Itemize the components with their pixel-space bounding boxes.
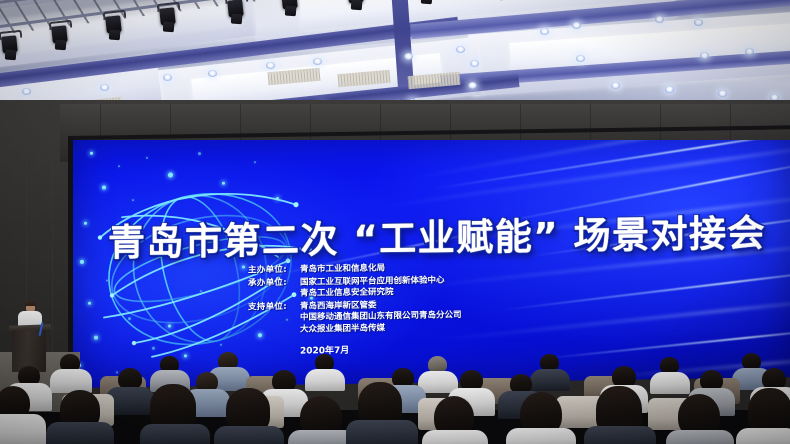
ceiling-downlight bbox=[745, 48, 754, 55]
ceiling-downlight bbox=[22, 88, 31, 95]
info-value: 青岛市工业和信息化局 bbox=[300, 263, 385, 276]
audience bbox=[0, 352, 790, 444]
audience-torso bbox=[50, 369, 92, 393]
stage-light bbox=[51, 25, 68, 43]
stage-light bbox=[281, 0, 298, 10]
info-label: 支持单位: bbox=[248, 301, 300, 313]
audience-torso bbox=[736, 428, 790, 444]
audience-torso bbox=[214, 426, 284, 444]
ceiling-downlight bbox=[576, 55, 585, 62]
ceiling-downlight bbox=[718, 90, 727, 97]
info-values: 青岛西海岸新区管委 中国移动通信集团山东有限公司青岛分公司 大众报业集团半岛传媒 bbox=[300, 299, 462, 336]
ceiling-downlight bbox=[700, 52, 709, 59]
info-label: 承办单位: bbox=[248, 277, 300, 289]
info-values: 国家工业互联网平台应用创新体验中心 青岛工业信息安全研究院 bbox=[300, 275, 445, 300]
conference-photo: 青岛市第二次 “工业赋能” 场景对接会 主办单位: 青岛市工业和信息化局 承办单… bbox=[0, 0, 790, 444]
ceiling-downlight bbox=[456, 46, 465, 53]
audience-torso bbox=[422, 430, 488, 444]
stage-light bbox=[1, 35, 18, 53]
organizer-info: 主办单位: 青岛市工业和信息化局 承办单位: 国家工业互联网平台应用创新体验中心… bbox=[248, 262, 462, 337]
audience-torso bbox=[530, 369, 570, 391]
audience-torso bbox=[650, 372, 690, 394]
ceiling-downlight bbox=[611, 82, 620, 89]
audience-torso bbox=[346, 420, 418, 444]
ceiling-downlight bbox=[572, 22, 581, 29]
ceiling-downlight bbox=[655, 16, 664, 23]
stage-light bbox=[227, 0, 244, 18]
ceiling-downlight bbox=[540, 28, 549, 35]
info-label: 主办单位: bbox=[248, 265, 300, 277]
ceiling-downlight bbox=[313, 58, 322, 65]
stage-light bbox=[105, 15, 122, 33]
ceiling-downlight bbox=[100, 84, 109, 91]
audience-torso bbox=[506, 428, 576, 444]
audience-torso bbox=[46, 422, 114, 444]
info-values: 青岛市工业和信息化局 bbox=[300, 263, 385, 276]
ceiling-downlight bbox=[266, 62, 275, 69]
info-value: 大众报业集团半岛传媒 bbox=[300, 322, 462, 336]
ceiling-downlight bbox=[468, 82, 477, 89]
ceiling-downlight bbox=[163, 74, 172, 81]
ceiling-downlight bbox=[470, 60, 479, 67]
ceiling-downlight bbox=[208, 70, 217, 77]
info-row-supporter: 支持单位: 青岛西海岸新区管委 中国移动通信集团山东有限公司青岛分公司 大众报业… bbox=[248, 299, 462, 337]
event-title: 青岛市第二次 “工业赋能” 场景对接会 bbox=[82, 202, 790, 267]
audience-torso bbox=[0, 414, 46, 444]
info-value: 青岛工业信息安全研究院 bbox=[300, 286, 445, 300]
audience-torso bbox=[584, 426, 656, 444]
audience-torso bbox=[140, 424, 210, 444]
stage-light bbox=[347, 0, 364, 4]
audience-torso bbox=[666, 430, 734, 444]
ceiling-downlight bbox=[694, 19, 703, 26]
info-row-organizer: 承办单位: 国家工业互联网平台应用创新体验中心 青岛工业信息安全研究院 bbox=[248, 275, 462, 301]
ceiling-downlight bbox=[665, 86, 674, 93]
ceiling-downlight bbox=[404, 53, 413, 60]
info-value: 中国移动通信集团山东有限公司青岛分公司 bbox=[300, 310, 462, 324]
stage-light bbox=[159, 7, 176, 25]
audience-torso bbox=[305, 369, 345, 391]
led-screen-surface: 青岛市第二次 “工业赋能” 场景对接会 主办单位: 青岛市工业和信息化局 承办单… bbox=[72, 140, 790, 388]
led-screen: 青岛市第二次 “工业赋能” 场景对接会 主办单位: 青岛市工业和信息化局 承办单… bbox=[72, 140, 790, 388]
